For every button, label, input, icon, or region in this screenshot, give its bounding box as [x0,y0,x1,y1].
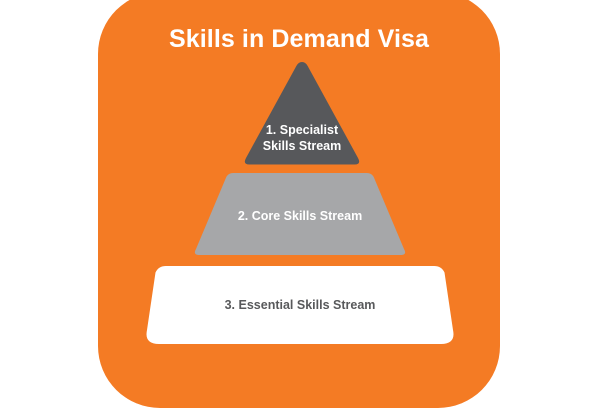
pyramid-diagram: 1. Specialist Skills Stream 2. Core Skil… [0,0,600,400]
pyramid-tier-3-essential[interactable] [144,264,456,347]
diagram-canvas: Skills in Demand Visa 1. Specialist Skil… [0,0,600,400]
pyramid-tier-1-specialist[interactable] [241,60,363,168]
pyramid-tier-2-core[interactable] [192,171,408,257]
